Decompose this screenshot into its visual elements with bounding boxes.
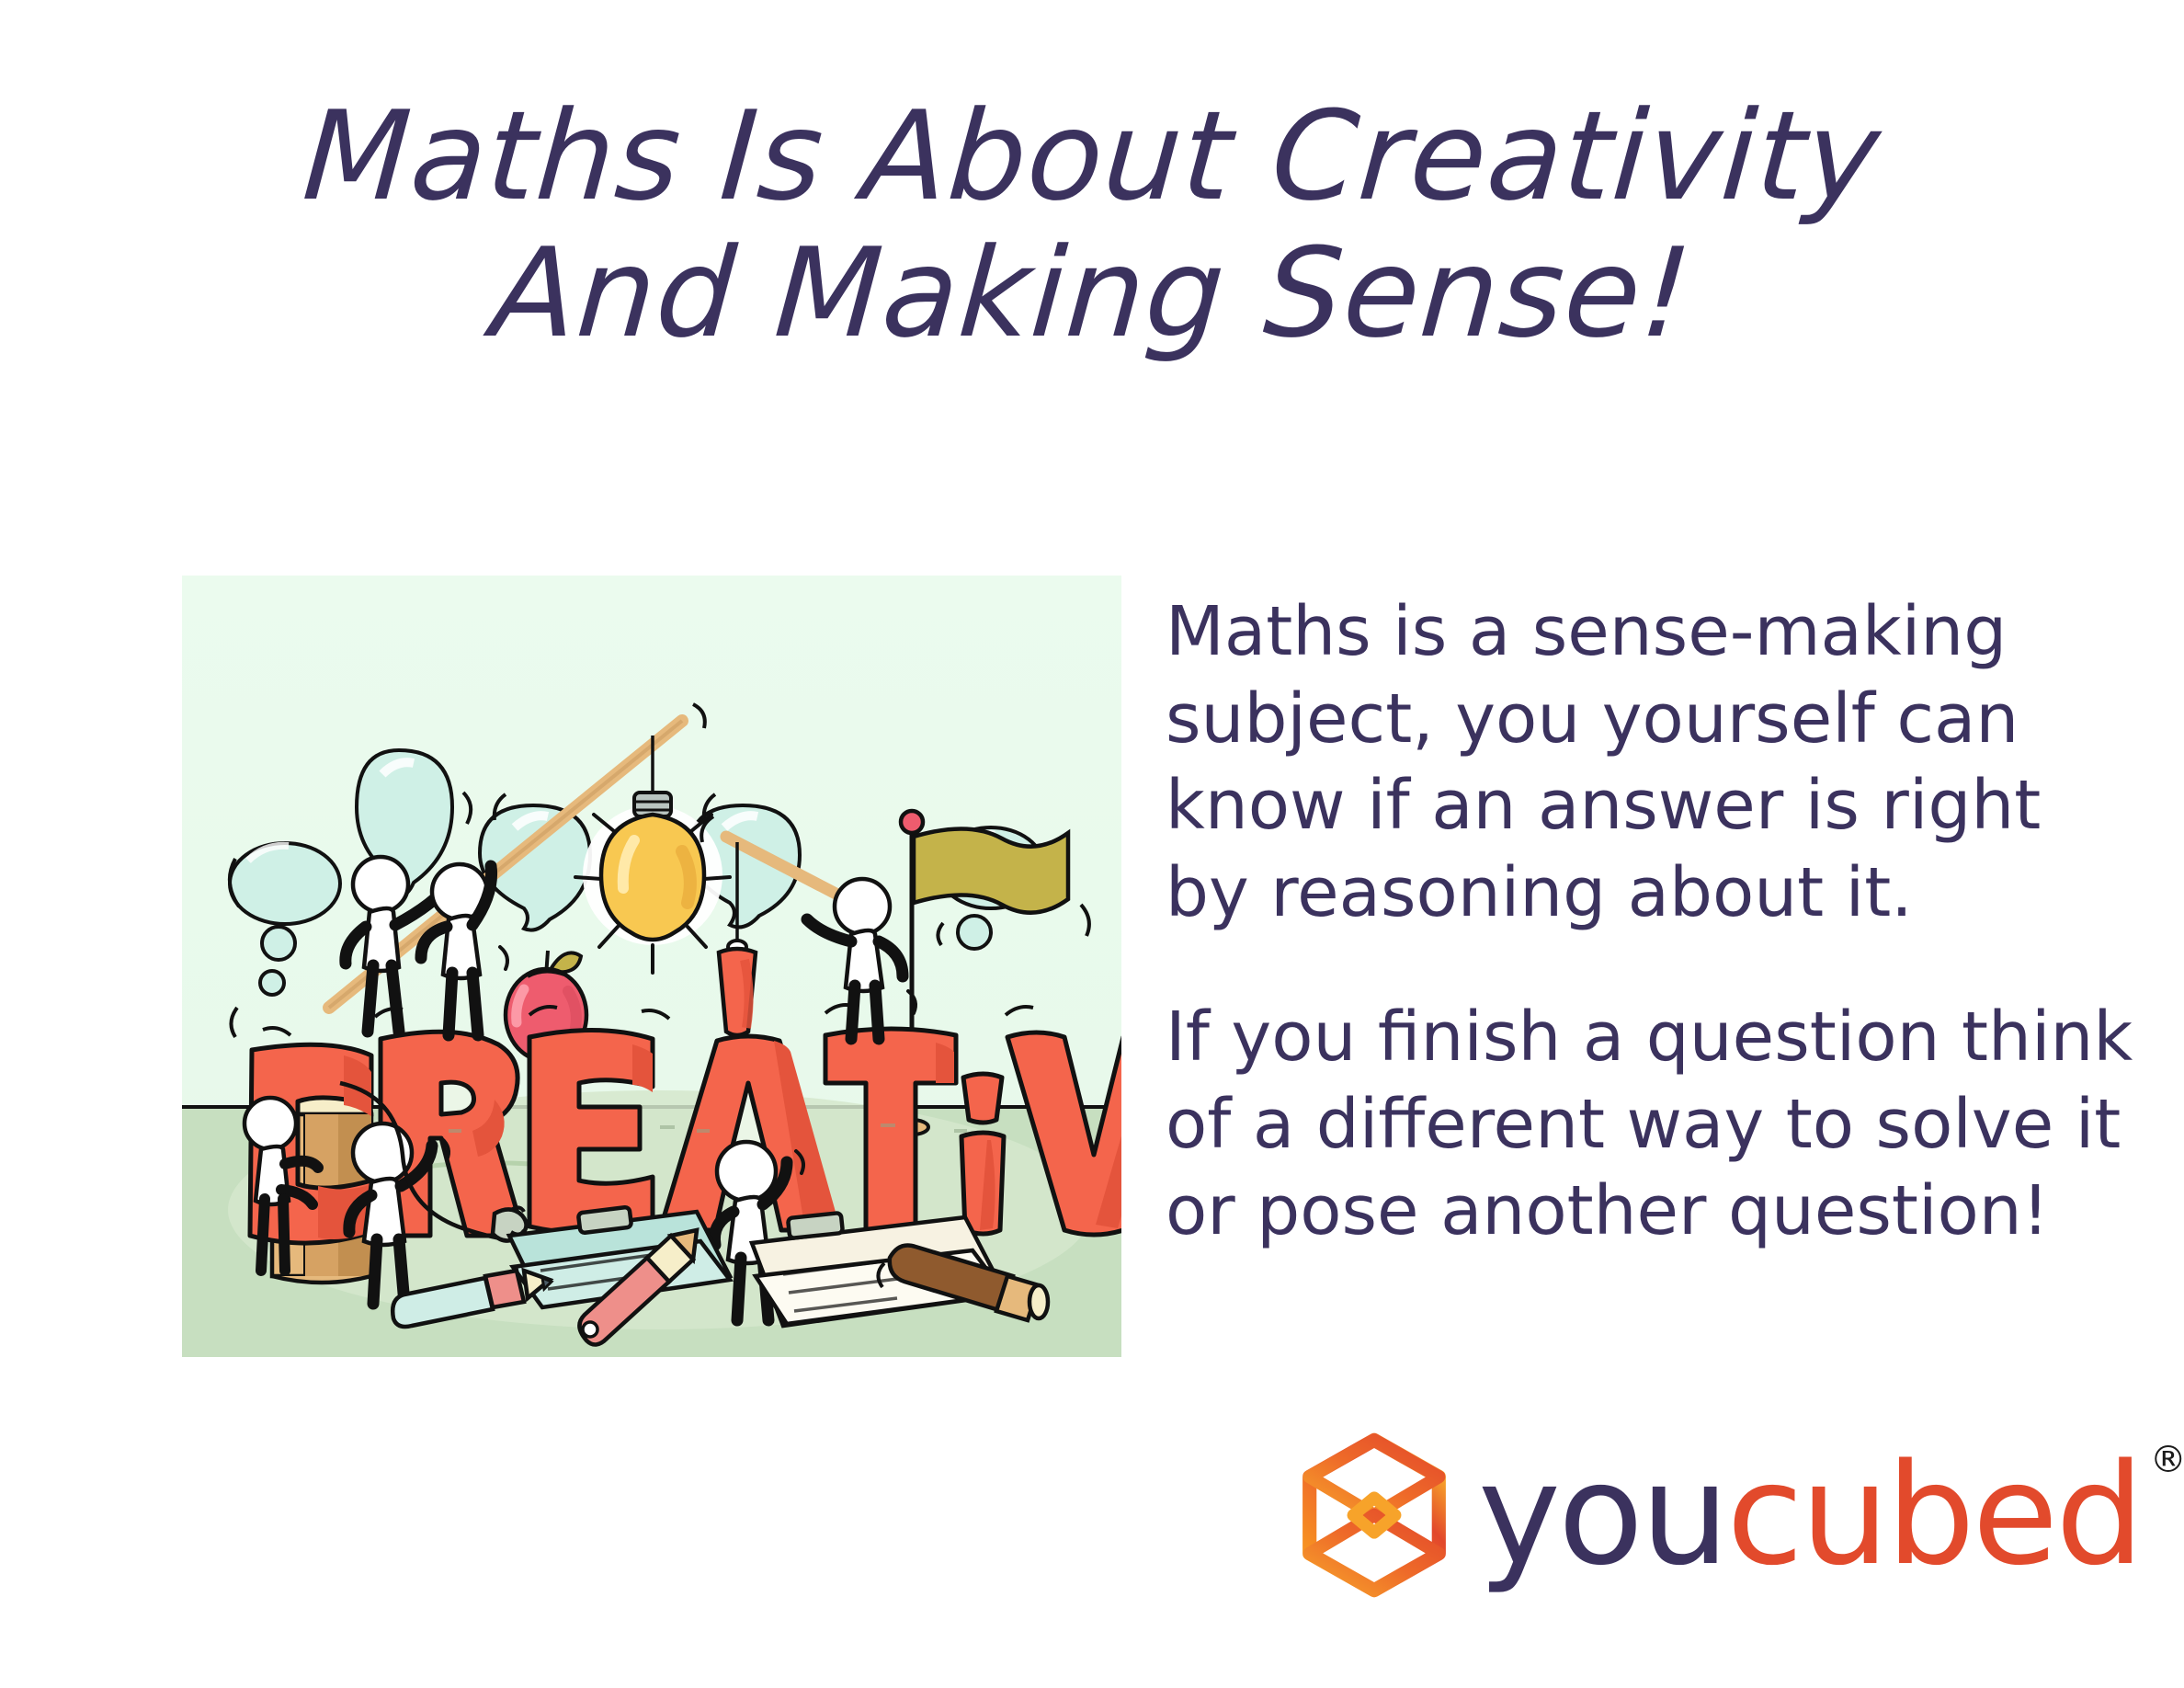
registered-trademark-symbol: ® [2150,1442,2184,1478]
youcubed-hexagon-cube-icon [1287,1428,1462,1602]
body-paragraph-2: If you finish a question think of a diff… [1166,994,2140,1255]
logo-word-you: you [1478,1433,1726,1596]
creative-illustration-svg [182,576,1121,1357]
title-line-1: Maths Is About Creativity [0,97,2184,217]
youcubed-wordmark: youcubed® [1478,1445,2142,1585]
creative-illustration [182,576,1121,1357]
body-copy: Maths is a sense-making subject, you you… [1166,588,2140,1255]
title-line-2: And Making Sense! [0,234,2184,354]
poster-canvas: Maths Is About Creativity And Making Sen… [0,0,2184,1688]
page-title: Maths Is About Creativity And Making Sen… [0,97,2184,355]
youcubed-logo[interactable]: youcubed® [1287,1423,2114,1607]
logo-word-cubed: cubed [1726,1433,2141,1596]
body-paragraph-1: Maths is a sense-making subject, you you… [1166,588,2140,937]
